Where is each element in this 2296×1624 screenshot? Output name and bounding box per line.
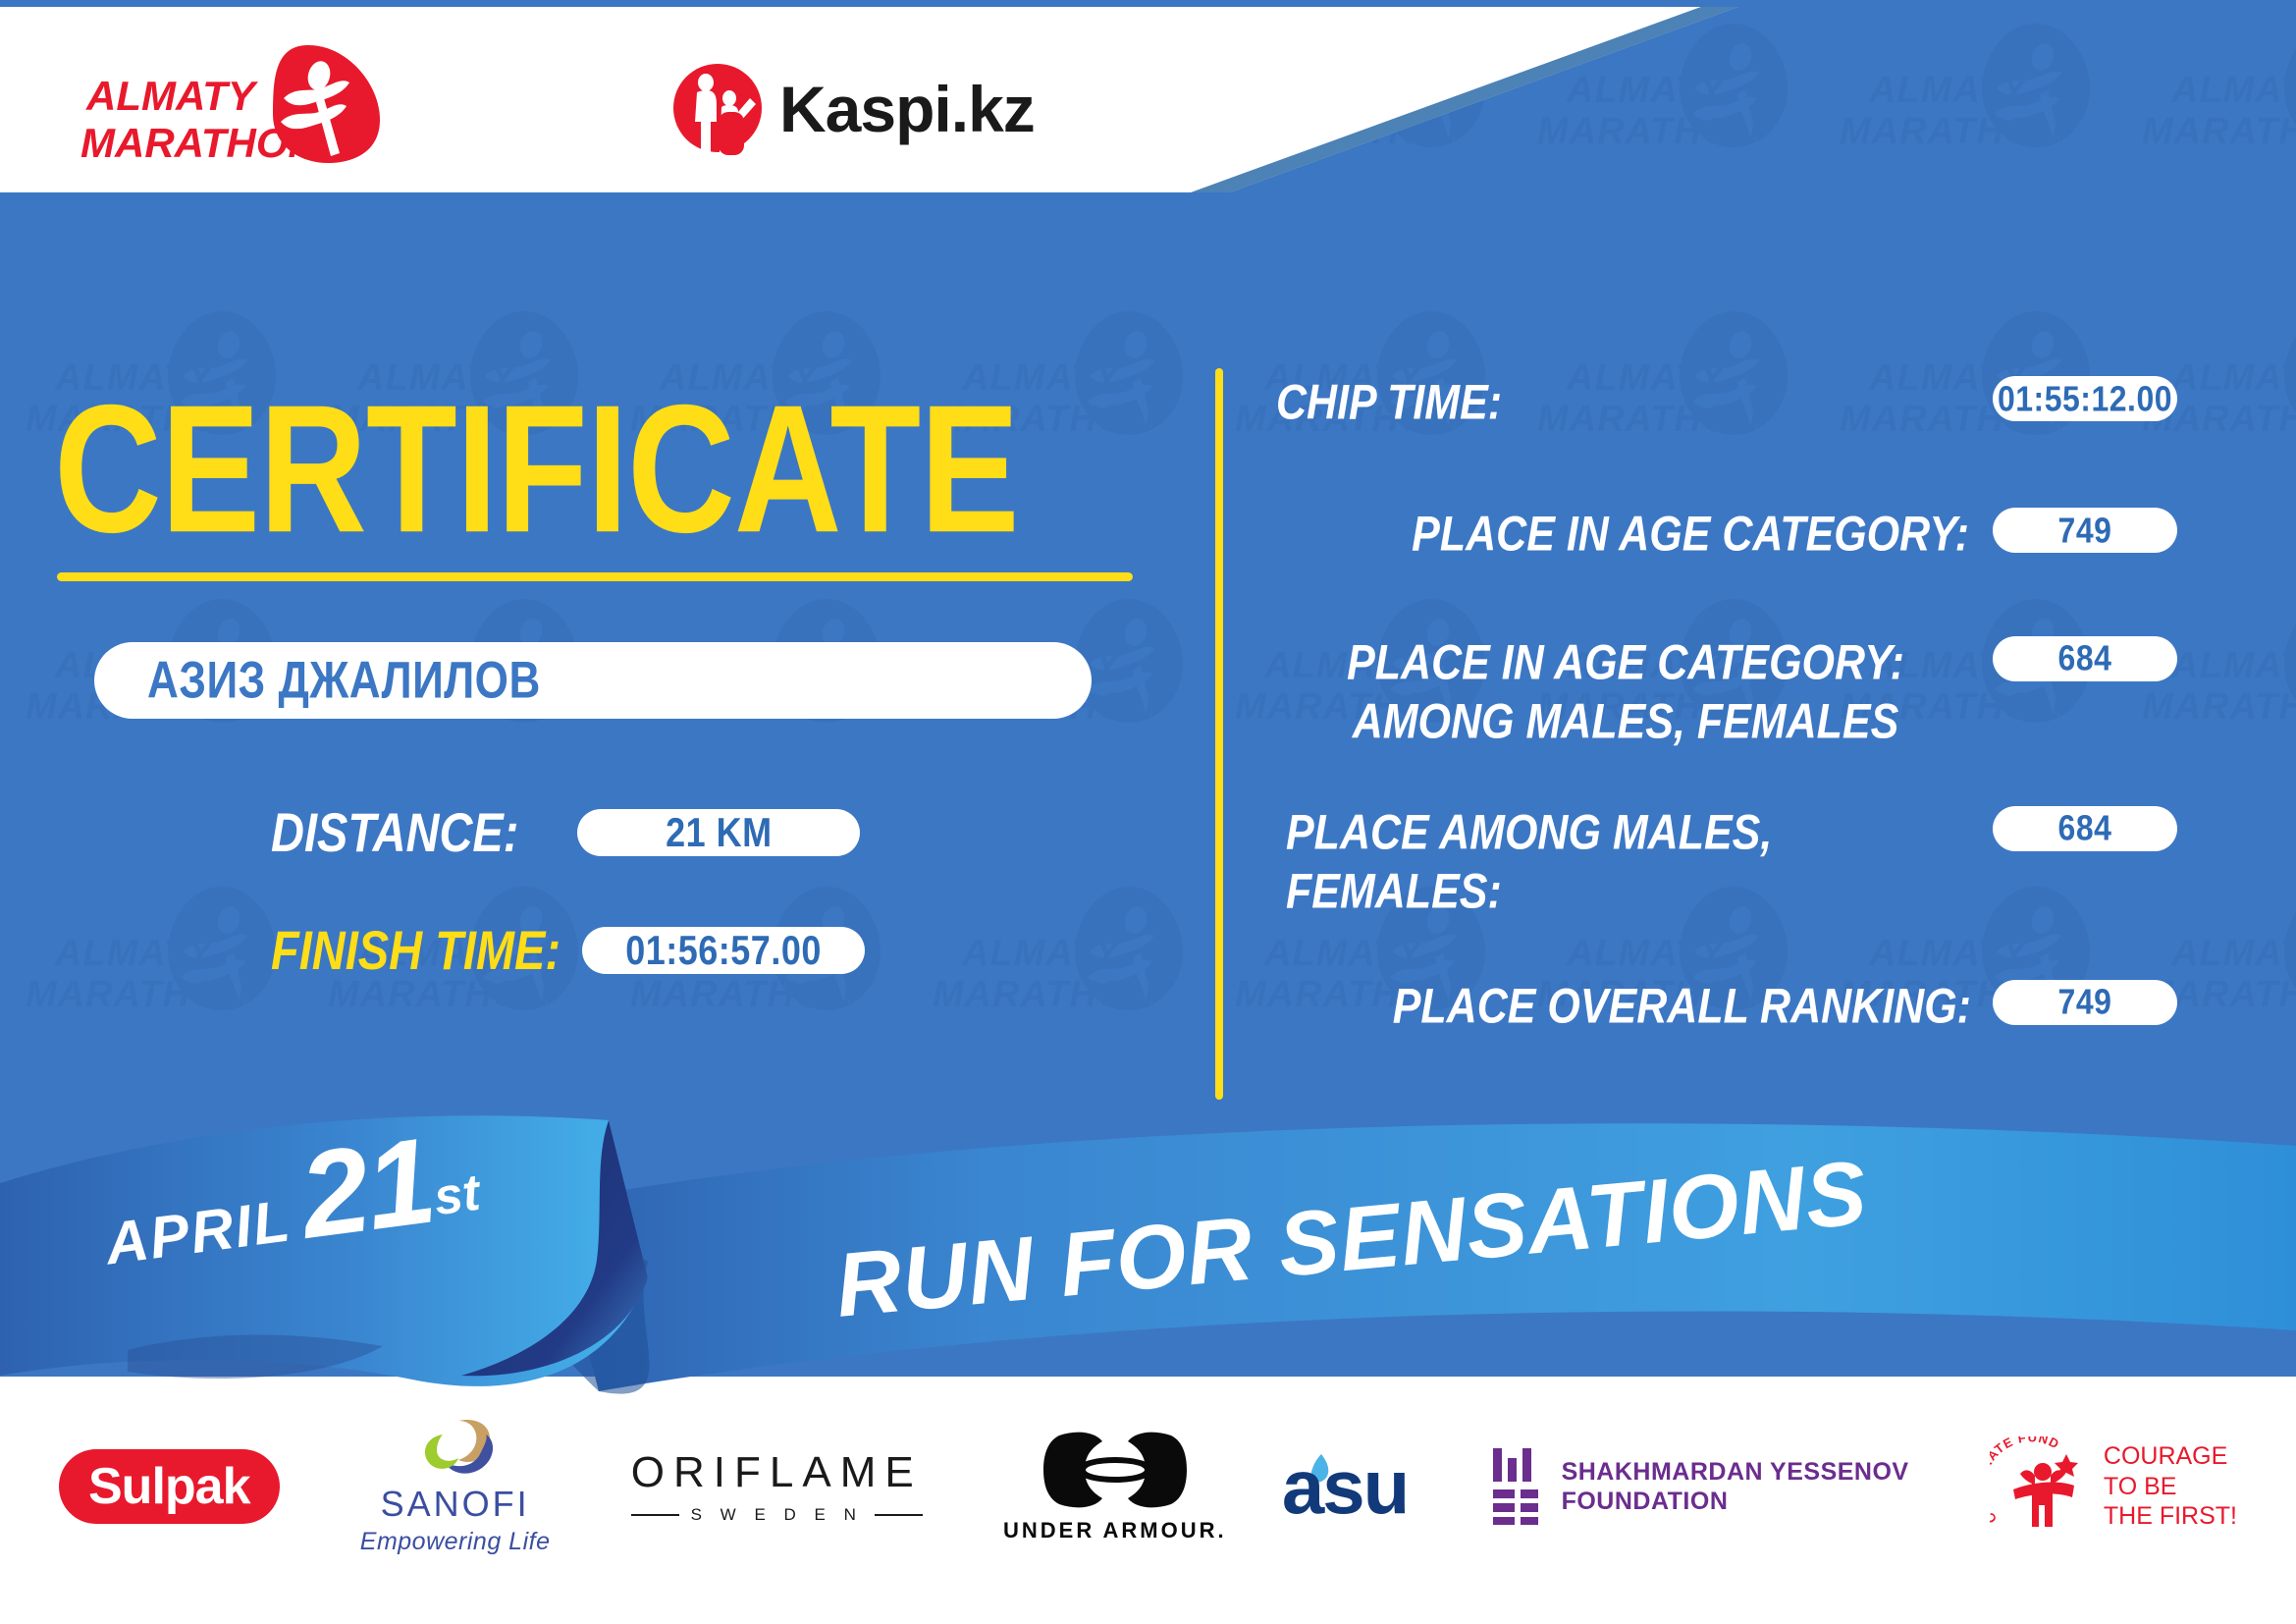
- place-among-males-females-value-field: 684: [1993, 806, 2177, 851]
- place-among-males-females-label-line1: PLACE AMONG MALES,: [1286, 803, 1975, 863]
- results-panel: CHIP TIME: 01:55:12.00 PLACE IN AGE CATE…: [1276, 373, 2177, 1073]
- place-age-category-value-field: 749: [1993, 508, 2177, 553]
- place-among-males-females-label-line2: FEMALES:: [1286, 863, 1975, 923]
- place-overall-ranking-row: PLACE OVERALL RANKING: 749: [1276, 977, 2177, 1028]
- kaspi-logo-text: Kaspi.kz: [779, 73, 1035, 145]
- event-date-day: 21: [293, 1112, 441, 1264]
- distance-value-field: 21 KM: [577, 809, 860, 856]
- chip-time-row: CHIP TIME: 01:55:12.00: [1276, 373, 2177, 424]
- sponsor-logo-asu: asu: [1308, 1442, 1408, 1532]
- sponsor-oriflame-label: ORIFLAME: [631, 1448, 923, 1497]
- sponsor-logo-oriflame: ORIFLAME S W E D E N: [631, 1448, 923, 1525]
- almaty-marathon-logo: ALMATY MARATHON: [80, 43, 404, 163]
- place-age-category-among-row: PLACE IN AGE CATEGORY: AMONG MALES, FEMA…: [1276, 633, 2177, 736]
- place-among-males-females-label: PLACE AMONG MALES, FEMALES:: [1276, 803, 1975, 923]
- chip-time-value-field: 01:55:12.00: [1993, 376, 2177, 421]
- sanofi-mark-icon: [401, 1417, 509, 1480]
- participant-name-value: АЗИЗ ДЖАЛИЛОВ: [147, 650, 541, 710]
- place-among-males-females-row: PLACE AMONG MALES, FEMALES: 684: [1276, 803, 2177, 906]
- sponsor-courage-label-line2: TO BE: [2104, 1472, 2237, 1502]
- under-armour-mark-icon: [1041, 1430, 1189, 1510]
- finish-time-row: FINISH TIME: 01:56:57.00: [271, 923, 865, 977]
- chip-time-value: 01:55:12.00: [1998, 378, 2172, 419]
- sponsor-under-armour-label: UNDER ARMOUR.: [1003, 1518, 1227, 1543]
- sponsor-courage-label-line3: THE FIRST!: [2104, 1501, 2237, 1532]
- sponsor-yessenov-label-line2: FOUNDATION: [1562, 1487, 1909, 1516]
- certificate-canvas: ALMATY MARATHON ALMATY: [0, 0, 2296, 1624]
- sponsor-logo-sulpak: Sulpak: [59, 1449, 280, 1524]
- distance-value: 21 KM: [666, 808, 773, 856]
- place-age-category-among-label-line1: PLACE IN AGE CATEGORY:: [1276, 633, 1975, 693]
- sponsor-courage-label-line1: COURAGE: [2104, 1441, 2237, 1472]
- distance-label: DISTANCE:: [271, 800, 518, 864]
- sponsor-logo-sanofi: SANOFI Empowering Life: [360, 1417, 551, 1556]
- finish-time-value-field: 01:56:57.00: [582, 927, 865, 974]
- oriflame-rule-right: [875, 1514, 923, 1516]
- place-age-category-label: PLACE IN AGE CATEGORY:: [1276, 505, 1975, 565]
- place-age-category-value: 749: [2058, 510, 2112, 551]
- sponsor-logos: Sulpak SANOFI Empowering Life ORIFLAME S…: [0, 1377, 2296, 1624]
- almaty-logo-line2: MARATHON: [80, 120, 320, 163]
- sponsor-oriflame-tagline: S W E D E N: [691, 1505, 863, 1525]
- event-date-month: APRIL: [101, 1187, 294, 1276]
- place-age-category-among-label-line2: AMONG MALES, FEMALES: [1276, 693, 1975, 753]
- place-age-category-among-value: 684: [2058, 638, 2112, 679]
- title-underline: [57, 572, 1133, 581]
- place-age-category-row: PLACE IN AGE CATEGORY: 749: [1276, 505, 2177, 556]
- distance-row: DISTANCE: 21 KM: [271, 805, 860, 859]
- place-overall-ranking-value: 749: [2058, 982, 2112, 1023]
- place-overall-ranking-value-field: 749: [1993, 980, 2177, 1025]
- sponsor-asu-label: asu: [1282, 1442, 1408, 1532]
- sponsor-sanofi-tagline: Empowering Life: [360, 1528, 551, 1556]
- place-age-category-among-label: PLACE IN AGE CATEGORY: AMONG MALES, FEMA…: [1276, 633, 1975, 753]
- sponsor-logo-under-armour: UNDER ARMOUR.: [1003, 1430, 1227, 1543]
- sponsor-sulpak-label: Sulpak: [88, 1457, 250, 1516]
- column-divider: [1215, 368, 1223, 1100]
- yessenov-bars-icon: [1489, 1448, 1546, 1525]
- sponsor-logo-courage-to-be-the-first: CORPORATE FUND COURAGE TO BE THE FIRST!: [1990, 1436, 2237, 1537]
- finish-time-label: FINISH TIME:: [271, 918, 561, 982]
- sponsor-sanofi-label: SANOFI: [381, 1484, 530, 1525]
- event-date-ordinal: st: [431, 1164, 483, 1227]
- sponsor-yessenov-label-line1: SHAKHMARDAN YESSENOV: [1562, 1457, 1909, 1487]
- page-title: CERTIFICATE: [54, 383, 1019, 556]
- kaspi-logo: Kaspi.kz: [673, 61, 1046, 155]
- sponsor-logo-yessenov-foundation: SHAKHMARDAN YESSENOV FOUNDATION: [1489, 1448, 1909, 1525]
- place-among-males-females-value: 684: [2058, 808, 2112, 849]
- oriflame-rule-left: [631, 1514, 679, 1516]
- participant-name-field: АЗИЗ ДЖАЛИЛОВ: [94, 642, 1092, 719]
- top-border-line: [0, 0, 2296, 7]
- place-overall-ranking-label: PLACE OVERALL RANKING:: [1276, 977, 1975, 1037]
- chip-time-label: CHIP TIME:: [1276, 373, 1975, 433]
- place-age-category-among-value-field: 684: [1993, 636, 2177, 681]
- header-banner: ALMATY MARATHON Kaspi.kz: [0, 0, 1757, 192]
- courage-runner-icon: CORPORATE FUND: [1990, 1436, 2094, 1537]
- finish-time-value: 01:56:57.00: [625, 926, 822, 974]
- almaty-logo-line1: ALMATY: [85, 73, 259, 119]
